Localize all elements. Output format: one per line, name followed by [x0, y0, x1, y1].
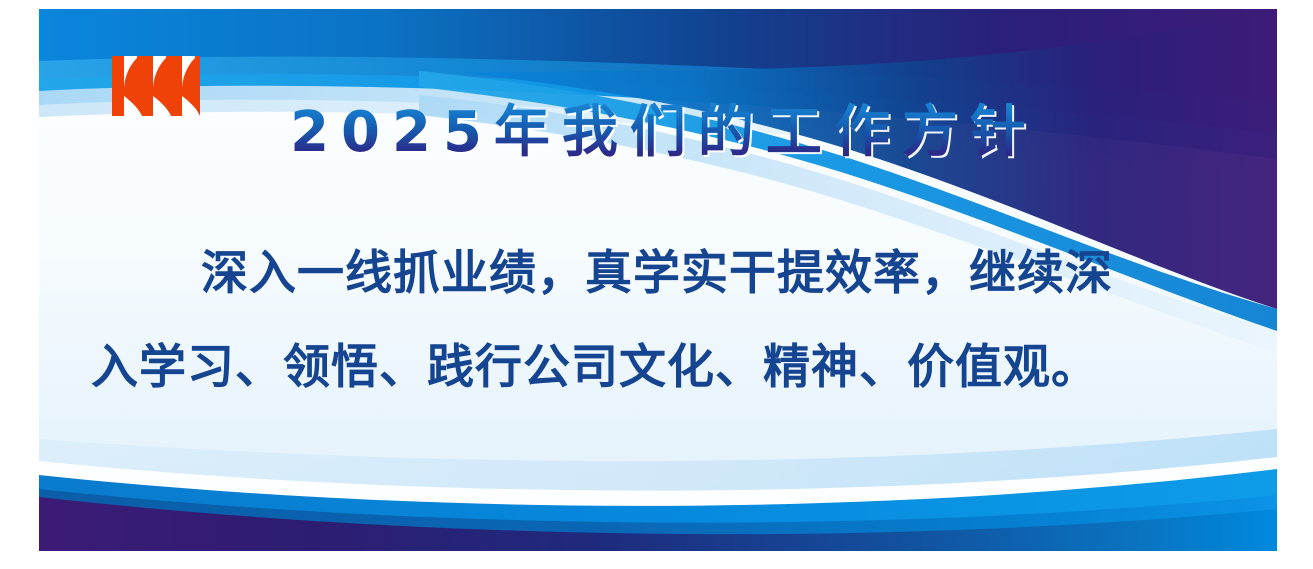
bottom-purple-band — [39, 497, 1277, 551]
banner-title: 2025年我们的工作方针 — [278, 97, 1038, 169]
banner-title-row: 2025年我们的工作方针 — [39, 97, 1277, 169]
bottom-deep-band — [39, 489, 1277, 551]
bottom-pale-band — [39, 429, 1277, 551]
banner-body: 深入一线抓业绩，真学实干提效率，继续深 入学习、领悟、践行公司文化、精神、价值观… — [91, 227, 1225, 415]
banner-root: 2025年我们的工作方针 深入一线抓业绩，真学实干提效率，继续深 入学习、领悟、… — [0, 0, 1313, 569]
top-dark-band — [39, 9, 1277, 103]
bottom-white-separator — [39, 457, 1277, 551]
banner-plate: 2025年我们的工作方针 深入一线抓业绩，真学实干提效率，继续深 入学习、领悟、… — [39, 9, 1277, 551]
banner-body-line-2: 入学习、领悟、践行公司文化、精神、价值观。 — [91, 321, 1225, 415]
banner-body-line-1: 深入一线抓业绩，真学实干提效率，继续深 — [91, 227, 1225, 321]
bottom-blue-band — [39, 469, 1277, 551]
